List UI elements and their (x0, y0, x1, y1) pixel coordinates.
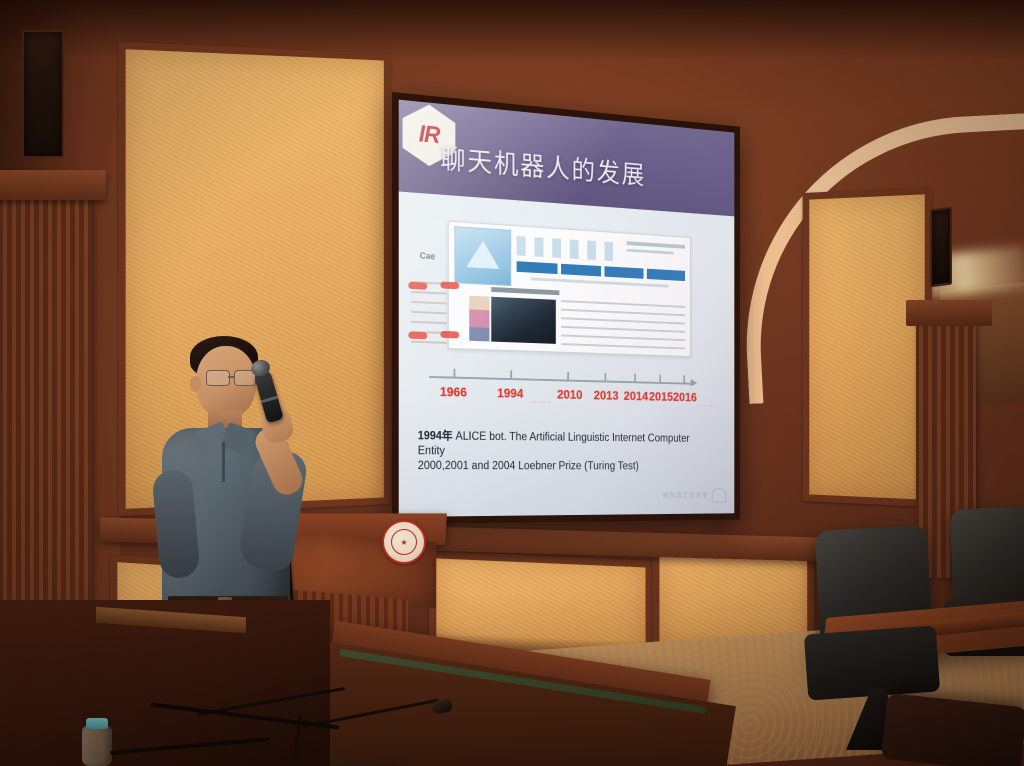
timeline-year: 2013 (594, 388, 619, 403)
timeline-dots: ...... (530, 394, 552, 406)
timeline-year: 1966 (440, 384, 467, 399)
site-tagline (627, 241, 685, 248)
computer-photo (491, 297, 556, 344)
timeline-tick (604, 373, 605, 382)
seal-inner: ★ (391, 529, 417, 555)
wall-speaker-left (22, 30, 64, 158)
logo-text: IR (419, 120, 440, 150)
timeline-year: 1994 (497, 386, 523, 401)
watermark-icon (712, 488, 726, 503)
pilaster-capital-left (0, 170, 106, 200)
timeline-tick (683, 375, 684, 383)
caption-text: ALICE bot. The Artificial Linguistic Int… (418, 431, 690, 458)
water-bottle-cap (86, 718, 108, 729)
site-tagline-secondary (627, 249, 674, 255)
acoustic-panel-right (803, 187, 932, 507)
watermark-text: 哈尔滨工业大学 (663, 491, 709, 500)
slide-title: 聊天机器人的发展 (440, 137, 646, 192)
timeline-tick (567, 372, 568, 381)
slide-surface: IR 聊天机器人的发展 Cae (399, 100, 735, 517)
slide-caption: 1994年 ALICE bot. The Artificial Linguist… (418, 429, 707, 474)
university-seal-icon: ★ (382, 520, 426, 564)
timeline-year: 2014 (624, 389, 648, 404)
shirt-placket (222, 442, 225, 482)
timeline: 1966 1994 ...... 2010 2013 2014 2015 201… (422, 362, 711, 422)
timeline-year: 2016 (673, 390, 697, 404)
person-photo (469, 296, 489, 342)
timeline-dots: ...... (697, 398, 717, 409)
sidebar-button (440, 281, 459, 289)
water-bottle (82, 726, 112, 766)
timeline-tick (510, 370, 511, 379)
microphone-icon (253, 369, 284, 424)
glasses-icon (206, 370, 258, 385)
timeline-arrow-icon (691, 379, 698, 387)
caption-year: 1994年 (418, 430, 453, 442)
timeline-tick (453, 369, 454, 378)
microphone-band (261, 396, 278, 404)
timeline-year: 2010 (557, 387, 582, 402)
timeline-tick (659, 375, 660, 383)
timeline-axis (429, 376, 692, 384)
ear (190, 376, 201, 392)
article-body-text (561, 300, 685, 350)
timeline-year: 2015 (649, 389, 673, 403)
timeline-tick (634, 374, 635, 382)
caption-line-1: 1994年 ALICE bot. The Artificial Linguist… (418, 429, 707, 460)
alice-website-screenshot (448, 221, 691, 357)
caption-line-2: 2000,2001 and 2004 Loebner Prize (Turing… (418, 459, 707, 474)
wall-speaker-right (930, 207, 952, 288)
pilaster-capital-right (906, 300, 992, 326)
pyramid-icon (466, 240, 499, 269)
institution-watermark: 哈尔滨工业大学 (663, 488, 727, 503)
sidebar-button (408, 282, 427, 290)
presentation-photo: IR 聊天机器人的发展 Cae (0, 0, 1024, 766)
glasses-lens-left (206, 370, 230, 386)
article-heading (491, 287, 559, 295)
alice-logo-icon (454, 226, 511, 286)
projection-screen: IR 聊天机器人的发展 Cae (392, 92, 740, 524)
screenshot-label: Cae (420, 251, 436, 262)
alice-wordmark (517, 236, 619, 261)
sidebar-button (408, 332, 427, 340)
sidebar-button (440, 331, 459, 339)
